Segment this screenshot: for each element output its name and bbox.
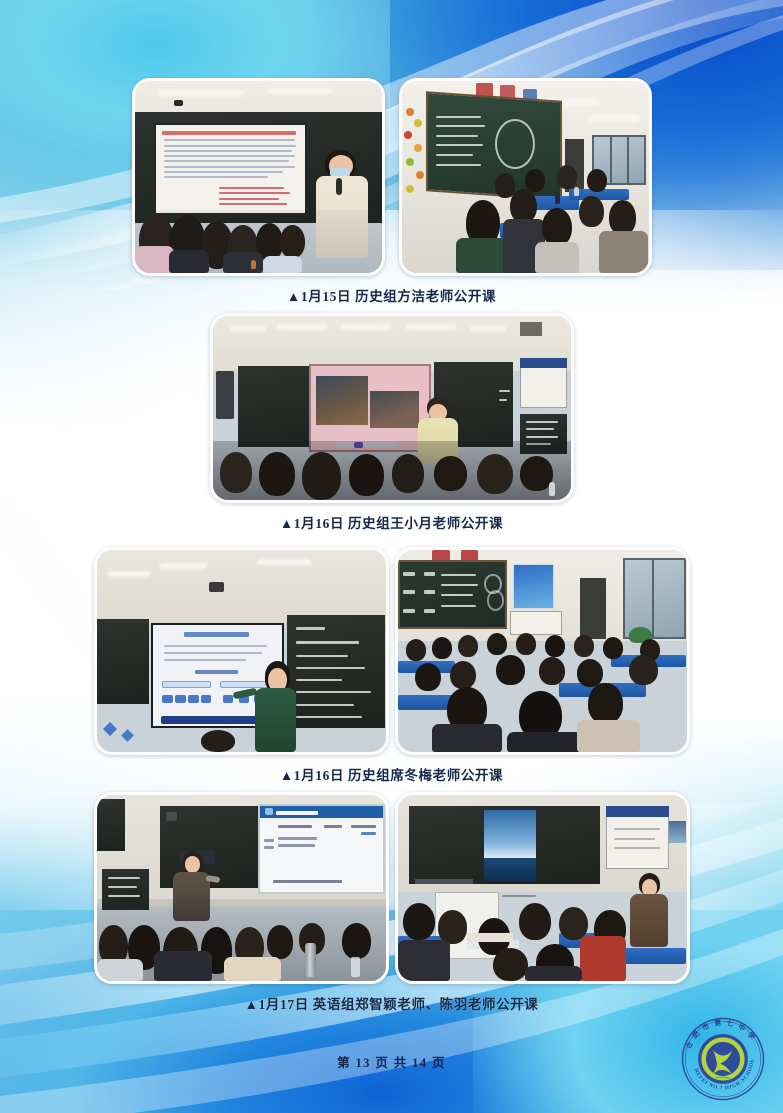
section-1: ▲1月15日 历史组方洁老师公开课 xyxy=(0,78,783,305)
photo-3-1 xyxy=(94,547,389,755)
photo-3-1-scene xyxy=(97,550,386,752)
section-4-photo-row xyxy=(0,792,783,984)
photo-1-1-scene xyxy=(135,81,382,273)
section-3-caption: ▲1月16日 历史组席冬梅老师公开课 xyxy=(0,764,783,784)
section-2-photo-row xyxy=(0,313,783,503)
photo-4-1-scene xyxy=(97,795,386,981)
section-2: ▲1月16日 历史组王小月老师公开课 xyxy=(0,313,783,532)
section-4: ▲1月17日 英语组郑智颖老师、陈羽老师公开课 xyxy=(0,792,783,1013)
photo-1-1 xyxy=(132,78,385,276)
section-3: ▲1月16日 历史组席冬梅老师公开课 xyxy=(0,547,783,784)
school-logo: 合肥市第七中学 HEFEI NO.7 HIGH SCHOOL xyxy=(677,1013,769,1105)
section-2-caption: ▲1月16日 历史组王小月老师公开课 xyxy=(0,512,783,532)
photo-3-2-scene xyxy=(398,550,687,752)
photo-4-2 xyxy=(395,792,690,984)
photo-1-2 xyxy=(399,78,652,276)
section-1-photo-row xyxy=(0,78,783,276)
section-4-caption: ▲1月17日 英语组郑智颖老师、陈羽老师公开课 xyxy=(0,993,783,1013)
section-1-caption: ▲1月15日 历史组方洁老师公开课 xyxy=(0,285,783,305)
photo-4-2-scene xyxy=(398,795,687,981)
photo-4-1 xyxy=(94,792,389,984)
photo-1-2-scene xyxy=(402,81,649,273)
photo-2-1 xyxy=(210,313,574,503)
document-page: ▲1月15日 历史组方洁老师公开课 xyxy=(0,0,783,1113)
page-content: ▲1月15日 历史组方洁老师公开课 xyxy=(0,0,783,1113)
page-number-footer: 第 13 页 共 14 页 xyxy=(0,1052,783,1071)
section-3-photo-row xyxy=(0,547,783,755)
photo-2-1-scene xyxy=(213,316,571,500)
photo-3-2 xyxy=(395,547,690,755)
